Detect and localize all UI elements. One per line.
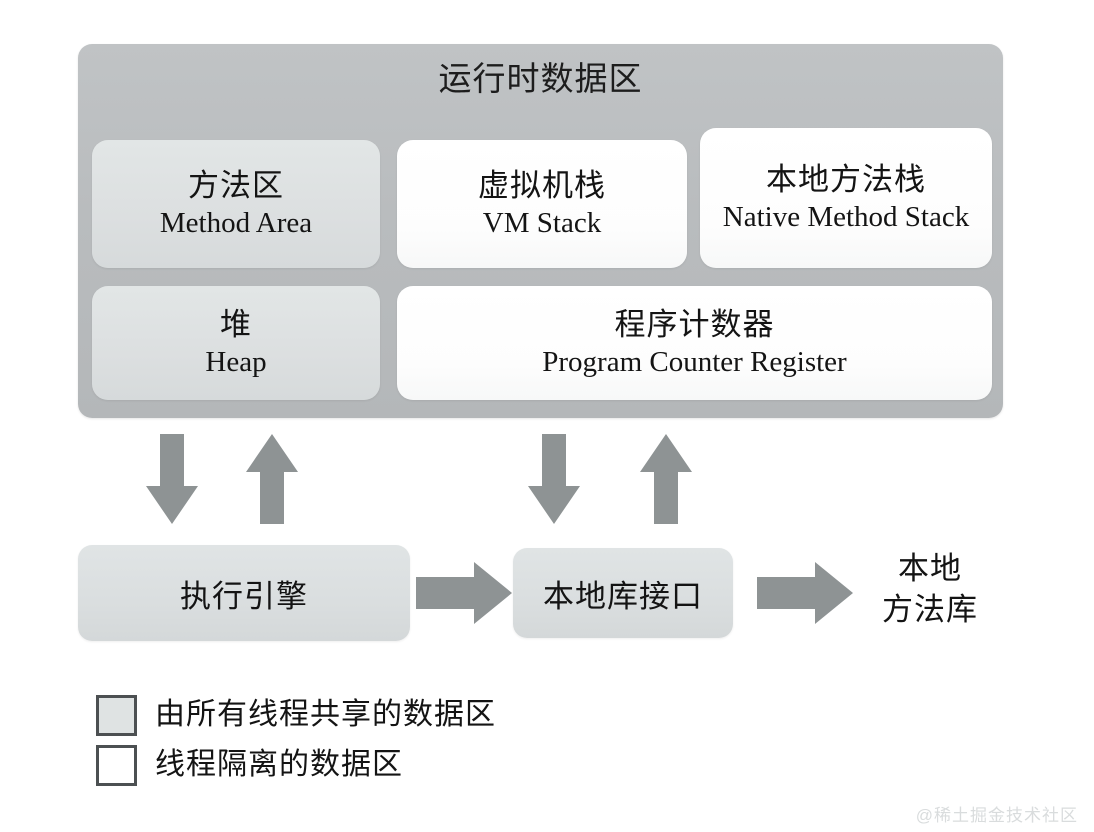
memory-region-method-area: 方法区 Method Area (92, 140, 380, 268)
diagram-canvas: 运行时数据区 方法区 Method Area 虚拟机栈 VM Stack 本地方… (0, 0, 1094, 832)
region-label-en: VM Stack (483, 205, 601, 241)
arrow-down-icon (528, 434, 580, 524)
region-label-cn: 方法区 (188, 167, 284, 205)
memory-region-program-counter: 程序计数器 Program Counter Register (397, 286, 992, 400)
legend-label-shared: 由所有线程共享的数据区 (155, 697, 496, 733)
execution-engine-label: 执行引擎 (180, 571, 308, 616)
watermark: @稀土掘金技术社区 (916, 801, 1078, 826)
legend-row-shared: 由所有线程共享的数据区 (96, 690, 496, 740)
legend: 由所有线程共享的数据区 线程隔离的数据区 (96, 690, 496, 790)
region-label-en: Native Method Stack (723, 199, 969, 235)
arrow-right-icon (757, 562, 853, 624)
legend-row-isolated: 线程隔离的数据区 (96, 740, 496, 790)
arrow-down-icon (146, 434, 198, 524)
native-library-interface-box: 本地库接口 (513, 548, 733, 638)
legend-swatch-shared-icon (96, 695, 137, 736)
arrow-up-icon (640, 434, 692, 524)
region-label-cn: 本地方法栈 (766, 161, 926, 199)
region-label-en: Program Counter Register (542, 344, 846, 380)
region-label-en: Method Area (160, 205, 312, 241)
memory-region-native-method-stack: 本地方法栈 Native Method Stack (700, 128, 992, 268)
execution-engine-box: 执行引擎 (78, 545, 410, 641)
native-method-library-label: 本地 方法库 (845, 548, 1015, 630)
memory-region-vm-stack: 虚拟机栈 VM Stack (397, 140, 687, 268)
memory-region-heap: 堆 Heap (92, 286, 380, 400)
region-label-cn: 虚拟机栈 (478, 167, 606, 205)
arrow-up-icon (246, 434, 298, 524)
legend-swatch-isolated-icon (96, 745, 137, 786)
region-label-cn: 程序计数器 (615, 306, 775, 344)
native-method-library-line2: 方法库 (845, 589, 1015, 630)
legend-label-isolated: 线程隔离的数据区 (155, 747, 403, 783)
runtime-data-area-title: 运行时数据区 (78, 60, 1003, 100)
arrow-right-icon (416, 562, 512, 624)
native-library-interface-label: 本地库接口 (543, 571, 703, 616)
region-label-cn: 堆 (220, 306, 252, 344)
native-method-library-line1: 本地 (845, 548, 1015, 589)
region-label-en: Heap (205, 344, 266, 380)
